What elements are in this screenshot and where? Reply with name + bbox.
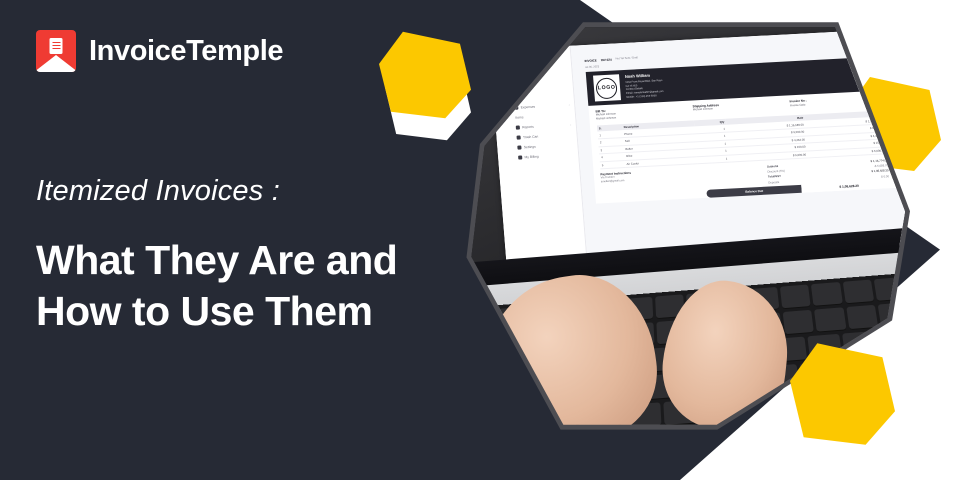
document-glyph [50,38,63,54]
seller-block: Noah William 1234 Front Royal Blvd, San … [624,73,663,100]
headline-line-1: What They Are and [36,235,397,286]
sidebar-item-label: Reports [522,125,534,130]
topbar-date: Jul 05, 2023 [585,66,599,70]
chevron-icon: ‹ [568,103,569,107]
sidebar-item-trash-can[interactable]: Trash Can [517,133,577,140]
topbar-crumb: INVOICE [584,59,597,64]
hero-headline: What They Are and How to Use Them [36,235,397,338]
shipping-block: Shipping Address Michael Johnson [692,100,786,117]
hero-eyebrow: Itemized Invoices : [36,175,280,208]
gear-icon [517,146,521,150]
invoice-date-key: Invoice Date [789,103,805,108]
reports-icon [516,126,520,130]
sidebar-item-items[interactable]: Items [515,113,575,120]
topbar-invoice-number: INV-024 [600,58,611,63]
invoice-app: Expenses ‹ Items Reports ‹ Trash Can [489,29,905,267]
payment-line-2: jonellen@gmail.com [601,180,632,186]
total-key: Deposits [768,180,779,185]
topbar-status: Not Yet Sent / Draft [615,57,637,61]
sidebar-item-settings[interactable]: Settings [517,143,577,150]
headline-line-2: How to Use Them [36,286,397,337]
hexagon-bottom-right-yellow [790,340,895,448]
trash-icon [517,136,521,140]
seller-mobile: Mobile : +1 (123) 456-5000 [626,94,664,100]
billing-icon [518,156,522,160]
invoice-document: LOGO Noah William 1234 Front Royal Blvd,… [585,57,896,204]
balance-due-label: Balance Due [706,185,801,198]
sidebar-item-label: Items [515,116,523,120]
sidebar-item-reports[interactable]: Reports ‹ [516,123,576,130]
sidebar-item-expenses[interactable]: Expenses ‹ [514,103,574,110]
hexagon-left-yellow [379,29,471,121]
balance-due-value: $ 1,08,628.20 [801,180,896,193]
invoice-logo: LOGO [592,75,620,102]
expenses-icon [514,106,518,110]
brand-name: InvoiceTemple [89,35,283,68]
sidebar-item-my-billing[interactable]: My Billing [518,153,578,160]
document-mountain-icon [36,30,76,72]
bill-to-block: Bill To: Michael Johnson Michael Johnson [595,105,689,122]
mountain-glyph [36,55,76,72]
chevron-icon: ‹ [570,123,571,127]
logo-text: LOGO [595,78,618,100]
laptop-screen: Expenses ‹ Items Reports ‹ Trash Can [489,29,905,267]
sidebar-item-label: Expenses [520,105,535,110]
payment-instructions: Payment Instructions Via Transfer jonell… [600,171,632,193]
sidebar-item-label: My Billing [524,155,538,160]
sidebar-item-label: Trash Can [523,135,539,140]
total-value: $ 0.00 [881,174,889,178]
brand-lockup[interactable]: InvoiceTemple [36,30,283,72]
sidebar-item-label: Settings [523,145,535,150]
